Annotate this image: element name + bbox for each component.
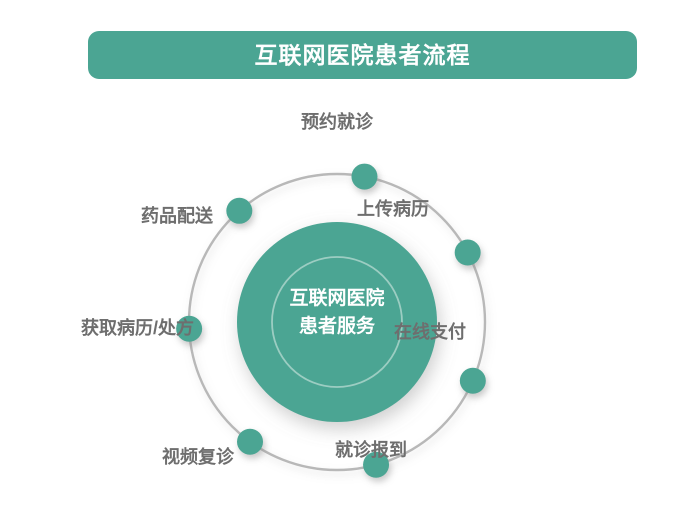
node-dot[interactable]: [460, 368, 486, 394]
node-dot[interactable]: [226, 198, 252, 224]
node-dot[interactable]: [237, 429, 263, 455]
node-dot[interactable]: [351, 164, 377, 190]
node-dot[interactable]: [455, 240, 481, 266]
node-label-checkin[interactable]: 就诊报到: [335, 441, 510, 459]
node-label-medicine-delivery[interactable]: 药品配送: [48, 207, 213, 225]
cycle-diagram: 互联网医院 患者服务 预约就诊 上传病历 在线支付 就诊报到 视频复诊 获取病历…: [0, 0, 676, 511]
node-label-appointment[interactable]: 预约就诊: [257, 113, 417, 131]
node-label-online-payment[interactable]: 在线支付: [394, 323, 564, 341]
diagram-svg: [0, 0, 676, 511]
node-label-video-followup[interactable]: 视频复诊: [64, 448, 234, 466]
infographic-canvas: 互联网医院患者流程: [0, 0, 676, 511]
node-label-upload-records[interactable]: 上传病历: [357, 200, 517, 218]
node-label-get-records-prescription[interactable]: 获取病历/处方: [14, 319, 194, 337]
